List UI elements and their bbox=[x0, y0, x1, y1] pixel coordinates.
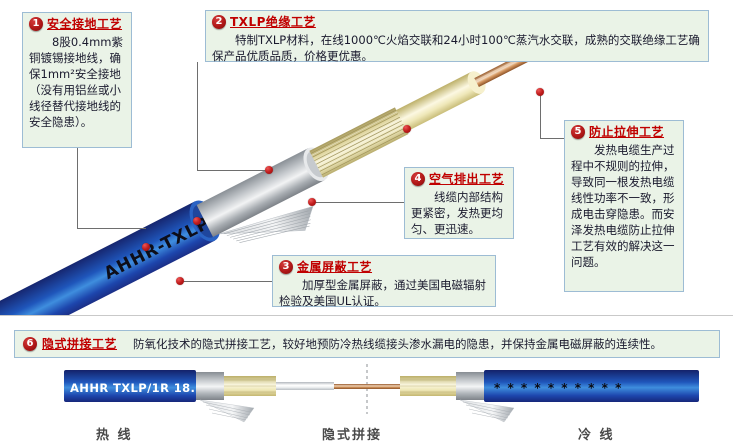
leader-line-3 bbox=[180, 281, 272, 282]
leader-line-1b bbox=[77, 228, 146, 229]
callout-5-header: 5 防止拉伸工艺 bbox=[571, 125, 677, 139]
anchor-dot-3 bbox=[176, 277, 184, 285]
diagram-canvas: AHHR-TXLP bbox=[0, 0, 733, 448]
callout-2-header: 2 TXLP绝缘工艺 bbox=[212, 15, 702, 29]
callout-1-title: 安全接地工艺 bbox=[47, 18, 122, 30]
callout-3-title: 金属屏蔽工艺 bbox=[297, 261, 372, 273]
callout-3-header: 3 金属屏蔽工艺 bbox=[279, 260, 489, 274]
callout-5-title: 防止拉伸工艺 bbox=[589, 126, 664, 138]
callout-6-title: 隐式拼接工艺 bbox=[42, 338, 117, 350]
leader-line-5b bbox=[540, 138, 564, 139]
callout-2-badge: 2 bbox=[212, 15, 226, 29]
callout-6-badge: 6 bbox=[23, 337, 37, 351]
leader-line-2b bbox=[197, 170, 269, 171]
shield-braid-strands bbox=[309, 107, 408, 177]
anchor-dot-2 bbox=[265, 166, 273, 174]
label-cold-wire: 冷 线 bbox=[578, 424, 615, 443]
cold-wire-print-text: * * * * * * * * * * bbox=[494, 381, 623, 395]
anchor-dot-4 bbox=[308, 198, 316, 206]
callout-4-text: 线缆内部结构更紧密，发热更均匀、更迅速。 bbox=[411, 189, 507, 237]
callout-box-1[interactable]: 1 安全接地工艺 8股0.4mm紫铜镀锡接地线，确保1mm²安全接地（没有用铝丝… bbox=[22, 12, 132, 148]
callout-box-6[interactable]: 6 隐式拼接工艺 防氧化技术的隐式拼接工艺，较好地预防冷热线缆接头渗水漏电的隐患… bbox=[14, 330, 720, 358]
anchor-dot-1 bbox=[142, 243, 150, 251]
anchor-dot-braid bbox=[403, 125, 411, 133]
bottom-cable-illustration: AHHR TXLP/1R 18.5w/m bbox=[14, 364, 720, 426]
callout-5-text: 发热电缆生产过程中不规则的拉伸，导致同一根发热电缆线性功率不一致，形成电击穿隐患… bbox=[571, 142, 677, 270]
label-hot-wire: 热 线 bbox=[96, 424, 133, 443]
callout-5-badge: 5 bbox=[571, 125, 585, 139]
callout-box-5[interactable]: 5 防止拉伸工艺 发热电缆生产过程中不规则的拉伸，导致同一根发热电缆线性功率不一… bbox=[564, 120, 684, 292]
callout-box-3[interactable]: 3 金属屏蔽工艺 加厚型金属屏蔽，通过美国电磁辐射检验及美国UL认证。 bbox=[272, 255, 496, 307]
callout-3-badge: 3 bbox=[279, 260, 293, 274]
callout-6-text: 防氧化技术的隐式拼接工艺，较好地预防冷热线缆接头渗水漏电的隐患，并保持金属电磁屏… bbox=[133, 336, 662, 352]
anchor-dot-5 bbox=[536, 88, 544, 96]
leader-line-1 bbox=[77, 148, 78, 228]
outer-jacket-blue: AHHR-TXLP bbox=[0, 196, 226, 315]
callout-6-header: 6 隐式拼接工艺 bbox=[23, 337, 117, 351]
callout-4-badge: 4 bbox=[411, 172, 425, 186]
callout-box-4[interactable]: 4 空气排出工艺 线缆内部结构更紧密，发热更均匀、更迅速。 bbox=[404, 167, 514, 239]
hot-ground-strands bbox=[200, 400, 254, 422]
leader-line-2 bbox=[197, 62, 198, 170]
callout-4-title: 空气排出工艺 bbox=[429, 173, 504, 185]
callout-3-text: 加厚型金属屏蔽，通过美国电磁辐射检验及美国UL认证。 bbox=[279, 277, 489, 309]
callout-1-text: 8股0.4mm紫铜镀锡接地线，确保1mm²安全接地（没有用铝丝或小线径替代接地线… bbox=[29, 34, 125, 130]
callout-4-header: 4 空气排出工艺 bbox=[411, 172, 507, 186]
callout-box-2[interactable]: 2 TXLP绝缘工艺 特制TXLP材料，在线1000℃火焰交联和24小时100℃… bbox=[205, 10, 709, 62]
leader-line-4 bbox=[312, 202, 404, 203]
callout-2-title: TXLP绝缘工艺 bbox=[230, 16, 316, 28]
cold-wire-section: * * * * * * * * * * bbox=[360, 370, 699, 422]
cold-ground-strands bbox=[460, 400, 514, 422]
hot-wire-section: AHHR TXLP/1R 18.5w/m bbox=[64, 370, 374, 422]
callout-2-text: 特制TXLP材料，在线1000℃火焰交联和24小时100℃蒸汽水交联，成熟的交联… bbox=[212, 32, 702, 64]
section-divider bbox=[0, 315, 733, 316]
leader-line-5 bbox=[540, 94, 541, 138]
callout-1-header: 1 安全接地工艺 bbox=[29, 17, 125, 31]
callout-1-badge: 1 bbox=[29, 17, 43, 31]
anchor-dot-shield bbox=[193, 217, 201, 225]
label-splice: 隐式拼接 bbox=[322, 424, 382, 443]
